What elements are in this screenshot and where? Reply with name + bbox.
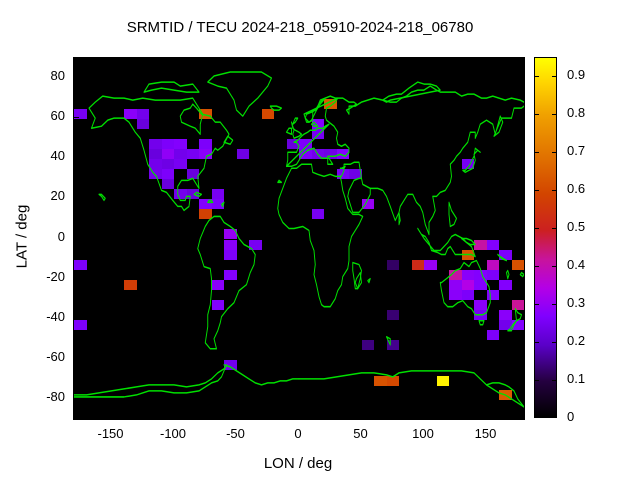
figure-root: SRMTID / TECU 2024-218_05910-2024-218_06… xyxy=(0,0,640,480)
y-tick-mark xyxy=(73,358,79,359)
y-tick-label: -40 xyxy=(7,309,65,324)
map-plot-area[interactable] xyxy=(73,57,525,420)
y-tick-mark xyxy=(73,318,79,319)
coastline-path xyxy=(305,98,325,122)
colorbar-tick-label: 0.2 xyxy=(567,333,585,348)
x-tick-label: -150 xyxy=(81,426,141,441)
coastline-path xyxy=(287,124,330,166)
colorbar-tick-mark xyxy=(552,152,557,153)
x-tick-mark xyxy=(236,412,237,418)
coastline-path xyxy=(312,122,318,126)
y-tick-mark xyxy=(73,398,79,399)
colorbar-tick-label: 0.8 xyxy=(567,105,585,120)
coastline-path xyxy=(194,192,202,196)
x-tick-mark xyxy=(423,412,424,418)
colorbar-tick-label: 0.3 xyxy=(567,295,585,310)
coastline-path xyxy=(440,261,490,315)
colorbar-tick-mark xyxy=(552,304,557,305)
coastline-path xyxy=(99,194,105,200)
coastline-path xyxy=(224,136,233,144)
coastline-path xyxy=(74,365,227,397)
coastline-path xyxy=(293,118,298,124)
coastline-path xyxy=(208,200,213,202)
y-tick-mark xyxy=(73,117,79,118)
coastline-path xyxy=(387,337,391,345)
colorbar-tick-label: 0.1 xyxy=(567,371,585,386)
coastline-path xyxy=(222,202,225,206)
colorbar-tick-mark xyxy=(534,304,539,305)
y-tick-mark xyxy=(73,278,79,279)
colorbar-tick-mark xyxy=(534,114,539,115)
y-tick-label: 60 xyxy=(7,108,65,123)
colorbar-tick-mark xyxy=(534,228,539,229)
y-tick-mark xyxy=(73,77,79,78)
x-tick-mark xyxy=(111,412,112,418)
coastline-path xyxy=(520,273,524,277)
coastline-path xyxy=(449,202,457,226)
y-tick-label: 80 xyxy=(7,68,65,83)
x-tick-mark xyxy=(173,412,174,418)
colorbar-tick-mark xyxy=(552,228,557,229)
colorbar-tick-mark xyxy=(534,152,539,153)
colorbar-tick-mark xyxy=(552,190,557,191)
coastline-path xyxy=(399,212,400,224)
coastline-path xyxy=(89,96,229,210)
colorbar-tick-mark xyxy=(552,342,557,343)
coastline-path xyxy=(339,162,370,212)
colorbar-tick-mark xyxy=(552,76,557,77)
x-tick-mark xyxy=(361,412,362,418)
colorbar-tick-label: 0.5 xyxy=(567,219,585,234)
x-tick-label: -50 xyxy=(206,426,266,441)
coastline-path xyxy=(144,82,199,92)
colorbar-tick-label: 0.6 xyxy=(567,181,585,196)
coastline-path xyxy=(287,86,525,166)
coastline-path xyxy=(368,279,371,283)
x-tick-label: 50 xyxy=(331,426,391,441)
x-tick-label: 150 xyxy=(456,426,516,441)
coastline-path xyxy=(370,106,524,234)
colorbar-tick-label: 0.7 xyxy=(567,143,585,158)
coastline-path xyxy=(299,371,524,407)
coastline-path xyxy=(278,180,282,182)
y-tick-label: -60 xyxy=(7,349,65,364)
colorbar-tick-mark xyxy=(552,380,557,381)
colorbar[interactable] xyxy=(534,57,557,418)
coastline-path xyxy=(340,166,345,168)
x-tick-label: 0 xyxy=(268,426,328,441)
coastline-path xyxy=(463,148,481,172)
y-tick-label: 40 xyxy=(7,148,65,163)
coastline-path xyxy=(507,271,510,279)
x-tick-label: -100 xyxy=(143,426,203,441)
x-tick-mark xyxy=(298,412,299,418)
colorbar-tick-mark xyxy=(552,266,557,267)
page-title: SRMTID / TECU 2024-218_05910-2024-218_06… xyxy=(0,19,600,36)
colorbar-tick-label: 0.4 xyxy=(567,257,585,272)
coastline-path xyxy=(462,239,476,245)
coastline-path xyxy=(270,106,281,110)
y-tick-mark xyxy=(73,157,79,158)
colorbar-tick-mark xyxy=(534,380,539,381)
colorbar-tick-mark xyxy=(534,76,539,77)
coastline-path xyxy=(278,164,363,306)
colorbar-tick-mark xyxy=(534,342,539,343)
coastline-layer xyxy=(74,58,524,419)
colorbar-tick-mark xyxy=(534,190,539,191)
colorbar-tick-mark xyxy=(534,266,539,267)
y-tick-mark xyxy=(73,197,79,198)
y-tick-label: -80 xyxy=(7,389,65,404)
colorbar-tick-label: 0.9 xyxy=(567,67,585,82)
colorbar-tick-label: 0 xyxy=(567,409,574,424)
coastline-path xyxy=(198,216,256,348)
y-tick-mark xyxy=(73,238,79,239)
y-axis-label: LAT / deg xyxy=(14,177,31,297)
coastline-path xyxy=(498,255,507,261)
coastline-path xyxy=(208,72,272,116)
coastline-path xyxy=(224,365,299,385)
colorbar-tick-mark xyxy=(552,114,557,115)
coastline-path xyxy=(287,128,292,134)
x-tick-mark xyxy=(486,412,487,418)
coastline-path xyxy=(508,309,522,331)
x-axis-label: LON / deg xyxy=(73,455,523,472)
x-tick-label: 100 xyxy=(393,426,453,441)
colorbar-gradient xyxy=(534,57,557,418)
coastline-path xyxy=(479,321,484,325)
